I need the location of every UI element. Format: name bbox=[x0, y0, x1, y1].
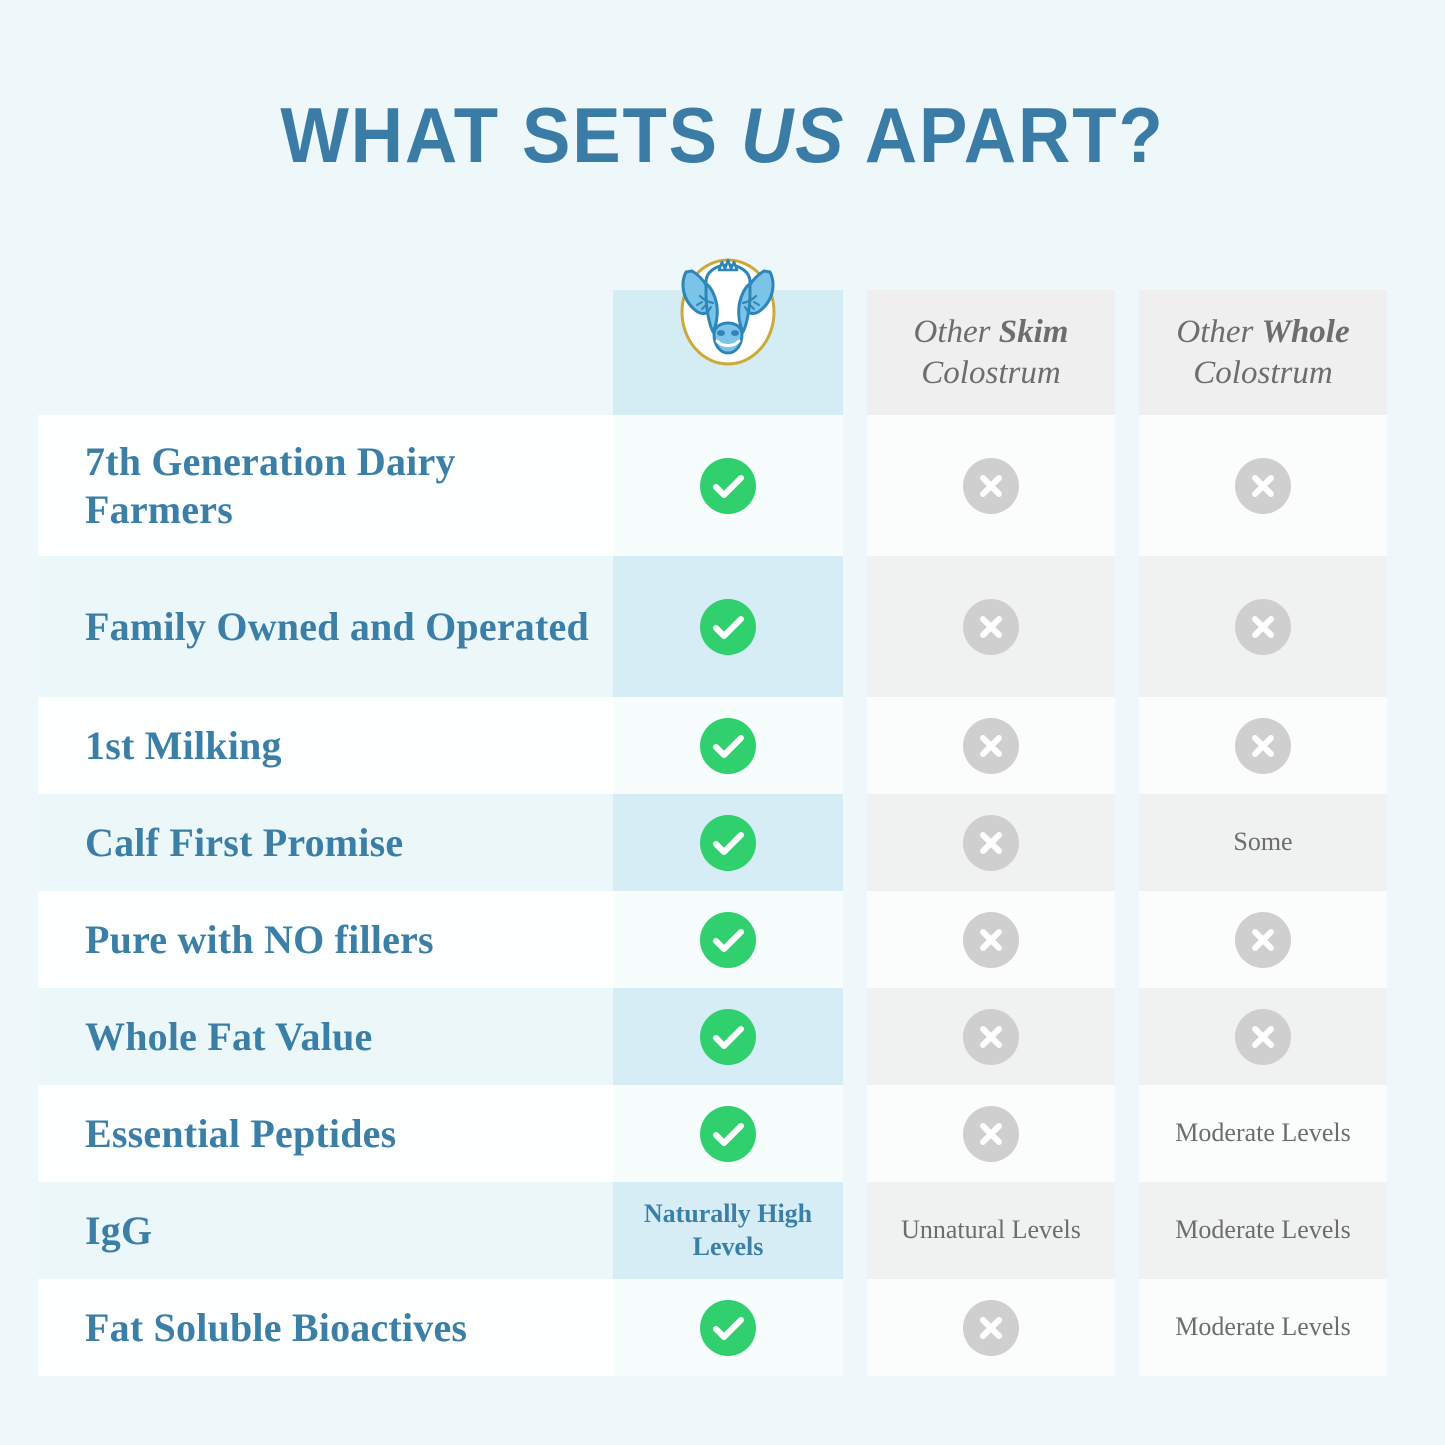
header-blank-cell bbox=[38, 290, 613, 415]
brand-cell bbox=[613, 794, 843, 891]
title-emphasis: US bbox=[741, 91, 845, 179]
row-label-text: Fat Soluble Bioactives bbox=[85, 1304, 467, 1351]
other-skim-cell: Unnatural Levels bbox=[867, 1182, 1115, 1279]
row-label: Fat Soluble Bioactives bbox=[38, 1279, 613, 1376]
row-label-text: Calf First Promise bbox=[85, 819, 403, 866]
column-gap bbox=[1115, 415, 1139, 556]
header-skim-plain: Other bbox=[914, 314, 999, 350]
other-whole-cell: Moderate Levels bbox=[1139, 1279, 1387, 1376]
other-skim-cell bbox=[867, 556, 1115, 697]
row-label-text: IgG bbox=[85, 1207, 152, 1254]
table-row: Pure with NO fillers bbox=[38, 891, 1408, 988]
table-row: 7th Generation Dairy Farmers bbox=[38, 415, 1408, 556]
cross-icon bbox=[963, 458, 1019, 514]
check-icon bbox=[700, 458, 756, 514]
table-row: Fat Soluble BioactivesModerate Levels bbox=[38, 1279, 1408, 1376]
column-gap bbox=[843, 415, 867, 556]
cow-head-logo-icon bbox=[666, 248, 790, 372]
column-gap bbox=[1115, 697, 1139, 794]
other-skim-cell bbox=[867, 988, 1115, 1085]
header-whole-line2: Colostrum bbox=[1193, 355, 1332, 391]
row-label-text: Pure with NO fillers bbox=[85, 916, 434, 963]
row-label: Whole Fat Value bbox=[38, 988, 613, 1085]
check-icon bbox=[700, 599, 756, 655]
table-row: 1st Milking bbox=[38, 697, 1408, 794]
row-label-text: Family Owned and Operated bbox=[85, 603, 589, 650]
cross-icon bbox=[1235, 912, 1291, 968]
other-whole-cell bbox=[1139, 415, 1387, 556]
row-label: Family Owned and Operated bbox=[38, 556, 613, 697]
check-icon bbox=[700, 1009, 756, 1065]
row-label: 1st Milking bbox=[38, 697, 613, 794]
row-label-text: Whole Fat Value bbox=[85, 1013, 372, 1060]
column-gap bbox=[1115, 1182, 1139, 1279]
header-brand-column bbox=[613, 290, 843, 415]
brand-cell bbox=[613, 891, 843, 988]
other-whole-cell bbox=[1139, 556, 1387, 697]
cross-icon bbox=[963, 1009, 1019, 1065]
row-label-text: Essential Peptides bbox=[85, 1110, 396, 1157]
header-other-whole-column: Other WholeColostrum bbox=[1139, 290, 1387, 415]
column-gap bbox=[1115, 988, 1139, 1085]
cross-icon bbox=[1235, 458, 1291, 514]
other-whole-cell: Moderate Levels bbox=[1139, 1085, 1387, 1182]
brand-cell bbox=[613, 1279, 843, 1376]
title-part-before: WHAT SETS bbox=[280, 91, 741, 179]
column-gap bbox=[843, 1085, 867, 1182]
brand-cell bbox=[613, 556, 843, 697]
row-label-text: 1st Milking bbox=[85, 722, 282, 769]
other-skim-cell bbox=[867, 1279, 1115, 1376]
other-skim-cell bbox=[867, 415, 1115, 556]
other-whole-cell bbox=[1139, 891, 1387, 988]
table-row: Essential PeptidesModerate Levels bbox=[38, 1085, 1408, 1182]
column-gap bbox=[843, 697, 867, 794]
page-title: WHAT SETS US APART? bbox=[51, 96, 1395, 174]
check-icon bbox=[700, 1300, 756, 1356]
check-icon bbox=[700, 718, 756, 774]
table-row: IgGNaturally High LevelsUnnatural Levels… bbox=[38, 1182, 1408, 1279]
header-other-skim-column: Other SkimColostrum bbox=[867, 290, 1115, 415]
check-icon bbox=[700, 815, 756, 871]
column-gap bbox=[1115, 556, 1139, 697]
header-skim-bold: Skim bbox=[999, 314, 1069, 350]
other-skim-cell bbox=[867, 891, 1115, 988]
cross-icon bbox=[1235, 1009, 1291, 1065]
column-gap bbox=[843, 1279, 867, 1376]
competitor-value-text: Some bbox=[1223, 826, 1302, 859]
brand-cell bbox=[613, 988, 843, 1085]
table-header-row: Other SkimColostrum Other WholeColostrum bbox=[38, 290, 1408, 415]
header-whole-bold: Whole bbox=[1262, 314, 1350, 350]
cross-icon bbox=[963, 599, 1019, 655]
cross-icon bbox=[1235, 718, 1291, 774]
other-whole-cell: Some bbox=[1139, 794, 1387, 891]
cross-icon bbox=[963, 718, 1019, 774]
row-label: Essential Peptides bbox=[38, 1085, 613, 1182]
column-gap bbox=[843, 1182, 867, 1279]
header-other-whole-label: Other WholeColostrum bbox=[1176, 312, 1349, 393]
column-gap bbox=[843, 891, 867, 988]
cross-icon bbox=[963, 815, 1019, 871]
cross-icon bbox=[963, 1300, 1019, 1356]
other-whole-cell bbox=[1139, 988, 1387, 1085]
column-gap bbox=[1115, 891, 1139, 988]
check-icon bbox=[700, 1106, 756, 1162]
cross-icon bbox=[963, 912, 1019, 968]
brand-cell bbox=[613, 1085, 843, 1182]
other-skim-cell bbox=[867, 1085, 1115, 1182]
title-part-after: APART? bbox=[845, 91, 1164, 179]
check-icon bbox=[700, 912, 756, 968]
table-row: Calf First PromiseSome bbox=[38, 794, 1408, 891]
column-gap bbox=[1115, 290, 1139, 415]
competitor-value-text: Unnatural Levels bbox=[891, 1214, 1091, 1247]
brand-cell bbox=[613, 415, 843, 556]
competitor-value-text: Moderate Levels bbox=[1165, 1117, 1360, 1150]
row-label: Pure with NO fillers bbox=[38, 891, 613, 988]
row-label-text: 7th Generation Dairy Farmers bbox=[85, 438, 613, 532]
brand-cell: Naturally High Levels bbox=[613, 1182, 843, 1279]
row-label: Calf First Promise bbox=[38, 794, 613, 891]
cross-icon bbox=[963, 1106, 1019, 1162]
header-skim-line2: Colostrum bbox=[921, 355, 1060, 391]
column-gap bbox=[843, 556, 867, 697]
column-gap bbox=[843, 794, 867, 891]
competitor-value-text: Moderate Levels bbox=[1165, 1214, 1360, 1247]
brand-cell bbox=[613, 697, 843, 794]
row-label: 7th Generation Dairy Farmers bbox=[38, 415, 613, 556]
table-row: Family Owned and Operated bbox=[38, 556, 1408, 697]
competitor-value-text: Moderate Levels bbox=[1165, 1311, 1360, 1344]
other-whole-cell: Moderate Levels bbox=[1139, 1182, 1387, 1279]
comparison-chart-page: WHAT SETS US APART? bbox=[0, 0, 1445, 1445]
header-whole-plain: Other bbox=[1176, 314, 1261, 350]
header-other-skim-label: Other SkimColostrum bbox=[914, 312, 1069, 393]
column-gap bbox=[843, 988, 867, 1085]
other-skim-cell bbox=[867, 697, 1115, 794]
row-label: IgG bbox=[38, 1182, 613, 1279]
column-gap bbox=[1115, 794, 1139, 891]
column-gap bbox=[1115, 1279, 1139, 1376]
column-gap bbox=[843, 290, 867, 415]
table-row: Whole Fat Value bbox=[38, 988, 1408, 1085]
cross-icon bbox=[1235, 599, 1291, 655]
brand-value-text: Naturally High Levels bbox=[613, 1198, 843, 1263]
comparison-table: Other SkimColostrum Other WholeColostrum… bbox=[38, 290, 1408, 1376]
table-body: 7th Generation Dairy FarmersFamily Owned… bbox=[38, 415, 1408, 1376]
other-skim-cell bbox=[867, 794, 1115, 891]
other-whole-cell bbox=[1139, 697, 1387, 794]
column-gap bbox=[1115, 1085, 1139, 1182]
